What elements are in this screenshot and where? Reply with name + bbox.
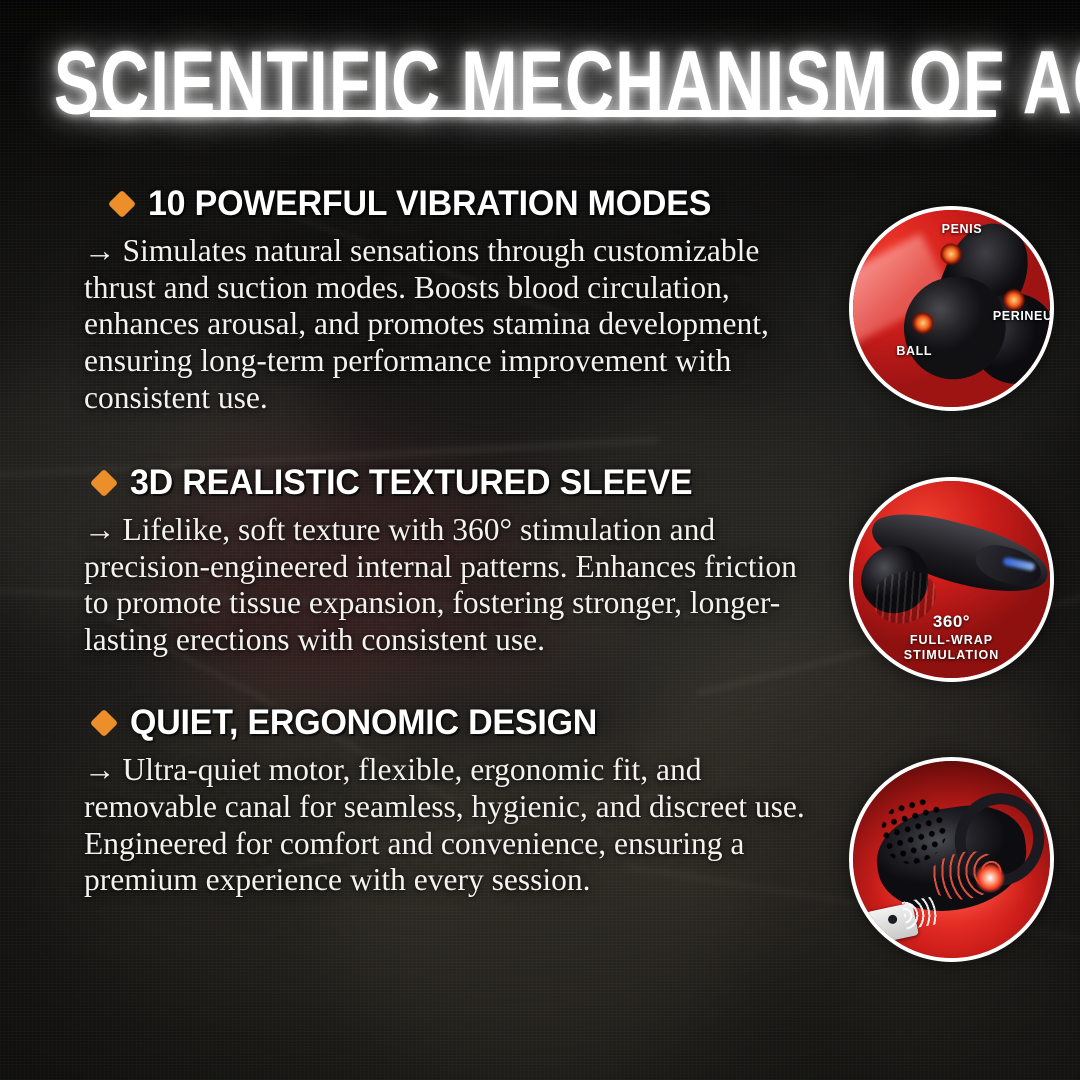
spacer-2 bbox=[84, 665, 826, 705]
title-underline-rule bbox=[90, 110, 996, 117]
orange-diamond-icon bbox=[90, 709, 118, 737]
feature-body-1: →Simulates natural sensations through cu… bbox=[84, 233, 826, 417]
feature-heading-3: QUIET, ERGONOMIC DESIGN bbox=[130, 705, 597, 742]
feature-body-text-2: Lifelike, soft texture with 360° stimula… bbox=[84, 512, 797, 658]
feature-list: 10 POWERFUL VIBRATION MODES →Simulates n… bbox=[84, 186, 826, 905]
remote-control-circle bbox=[849, 757, 1054, 962]
feature-section-3: QUIET, ERGONOMIC DESIGN →Ultra-quiet mot… bbox=[84, 705, 826, 899]
zone-label-ball: BALL bbox=[896, 344, 932, 358]
zone-label-perineum: PERINEUM bbox=[993, 309, 1050, 323]
feature-heading-2: 3D REALISTIC TEXTURED SLEEVE bbox=[130, 465, 692, 502]
wireless-signal-icon bbox=[902, 896, 938, 929]
feature-body-text-3: Ultra-quiet motor, flexible, ergonomic f… bbox=[84, 752, 805, 898]
feature-body-3: →Ultra-quiet motor, flexible, ergonomic … bbox=[84, 752, 826, 899]
arrow-icon: → bbox=[84, 752, 116, 787]
product-zones-circle: PENIS BALL PERINEUM bbox=[849, 206, 1054, 411]
product-zones-artwork: PENIS BALL PERINEUM bbox=[853, 210, 1050, 407]
zone-marker-icon bbox=[1003, 289, 1025, 311]
full-wrap-caption: 360° FULL-WRAP STIMULATION bbox=[853, 612, 1050, 662]
zone-label-penis: PENIS bbox=[942, 222, 983, 236]
feature-section-2: 3D REALISTIC TEXTURED SLEEVE →Lifelike, … bbox=[84, 465, 826, 659]
feature-heading-row-1: 10 POWERFUL VIBRATION MODES bbox=[84, 186, 826, 223]
zone-marker-icon bbox=[940, 243, 962, 265]
caption-stimulation: STIMULATION bbox=[853, 648, 1050, 662]
spacer-1 bbox=[84, 423, 826, 465]
full-wrap-circle: 360° FULL-WRAP STIMULATION bbox=[849, 477, 1054, 682]
feature-heading-1: 10 POWERFUL VIBRATION MODES bbox=[148, 186, 711, 223]
caption-full-wrap: FULL-WRAP bbox=[853, 633, 1050, 647]
feature-section-1: 10 POWERFUL VIBRATION MODES →Simulates n… bbox=[84, 186, 826, 417]
promo-graphic: SCIENTIFIC MECHANISM OF ACTION 10 POWERF… bbox=[0, 0, 1080, 1080]
orange-diamond-icon bbox=[108, 190, 136, 218]
feature-heading-row-2: 3D REALISTIC TEXTURED SLEEVE bbox=[84, 465, 826, 502]
feature-body-2: →Lifelike, soft texture with 360° stimul… bbox=[84, 512, 826, 659]
page-title-wrap: SCIENTIFIC MECHANISM OF ACTION bbox=[0, 38, 1080, 112]
full-wrap-artwork: 360° FULL-WRAP STIMULATION bbox=[853, 481, 1050, 678]
arrow-icon: → bbox=[84, 233, 116, 268]
feature-heading-row-3: QUIET, ERGONOMIC DESIGN bbox=[84, 705, 826, 742]
orange-diamond-icon bbox=[90, 469, 118, 497]
arrow-icon: → bbox=[84, 512, 116, 547]
remote-control-artwork bbox=[853, 761, 1050, 958]
feature-body-text-1: Simulates natural sensations through cus… bbox=[84, 233, 769, 415]
caption-360: 360° bbox=[853, 612, 1050, 632]
